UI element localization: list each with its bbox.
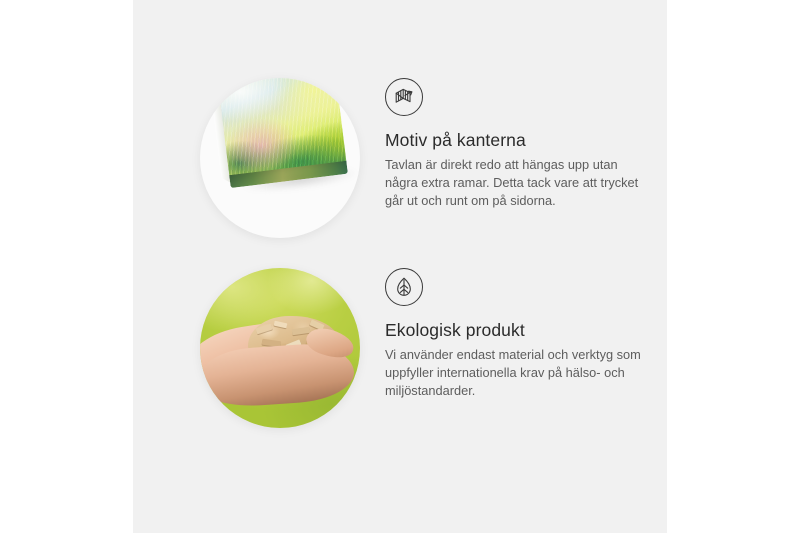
feature-title: Motiv på kanterna: [385, 130, 657, 151]
product-feature-graphic: Motiv på kanterna Tavlan är direkt redo …: [0, 0, 800, 533]
feature-description: Tavlan är direkt redo att hängas upp uta…: [385, 156, 647, 210]
leaf-icon: [385, 268, 423, 306]
canvas-art-photo: [200, 78, 360, 238]
canvas-block: [217, 78, 353, 197]
canvas-wrapped-edge-icon: [385, 78, 423, 116]
content-panel: Motiv på kanterna Tavlan är direkt redo …: [133, 0, 667, 533]
feature-description: Vi använder endast material och verktyg …: [385, 346, 647, 400]
wood-chip: [274, 321, 288, 329]
feature-title: Ekologisk produkt: [385, 320, 657, 341]
feature-list: Motiv på kanterna Tavlan är direkt redo …: [133, 0, 667, 533]
feature-text-column: Motiv på kanterna Tavlan är direkt redo …: [385, 78, 657, 210]
hands-wood-chips-photo: [200, 268, 360, 428]
feature-text-column: Ekologisk produkt Vi använder endast mat…: [385, 268, 657, 400]
wood-chip: [255, 324, 272, 335]
